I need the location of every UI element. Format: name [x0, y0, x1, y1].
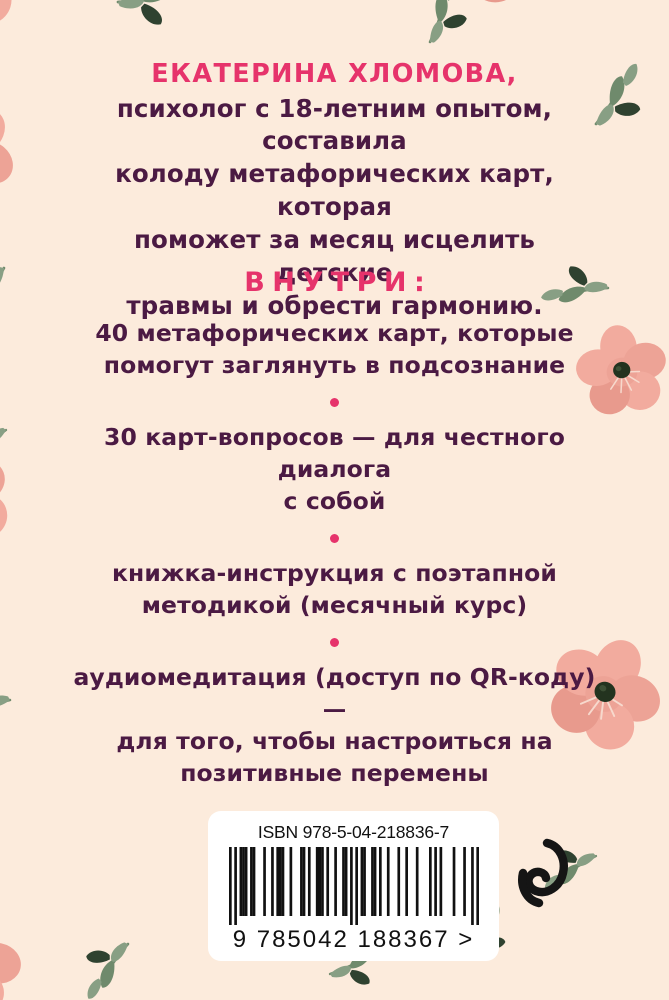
- feature-line: 30 карт-вопросов — для честного диалога: [104, 423, 565, 483]
- book-back-cover: ЕКАТЕРИНА ХЛОМОВА, психолог с 18-летним …: [0, 0, 669, 1000]
- feature-separator-dot: [330, 534, 339, 543]
- feature-list: 40 метафорических карт, которыепомогут з…: [62, 318, 607, 789]
- feature-line: 40 метафорических карт, которые: [95, 319, 573, 347]
- isbn-barcode-box: ISBN 978-5-04-218836-7 9 785042 188367 >: [208, 811, 499, 961]
- eksmo-spiral-logo: [516, 838, 570, 908]
- feature-line: для того, чтобы настроиться на: [116, 727, 552, 755]
- isbn-text: ISBN 978-5-04-218836-7: [258, 822, 449, 843]
- blurb-line: колоду метафорических карт, которая: [115, 159, 554, 221]
- feature-item: аудиомедитация (доступ по QR-коду) —для …: [62, 662, 607, 790]
- author-name: ЕКАТЕРИНА ХЛОМОВА,: [72, 58, 597, 91]
- ean-digits: 9 785042 188367 >: [233, 926, 475, 954]
- feature-line: позитивные перемены: [180, 759, 489, 787]
- blurb-line: психолог с 18-летним опытом, составила: [117, 94, 552, 156]
- inside-heading: ВНУТРИ:: [72, 267, 597, 298]
- feature-separator-dot: [330, 638, 339, 647]
- feature-line: с собой: [284, 487, 386, 515]
- feature-line: методикой (месячный курс): [142, 591, 528, 619]
- feature-line: книжка-инструкция с поэтапной: [112, 559, 557, 587]
- barcode-bars: [229, 847, 479, 925]
- feature-item: книжка-инструкция с поэтапнойметодикой (…: [62, 558, 607, 622]
- feature-item: 40 метафорических карт, которыепомогут з…: [62, 318, 607, 382]
- feature-item: 30 карт-вопросов — для честного диалогас…: [62, 422, 607, 518]
- feature-line: помогут заглянуть в подсознание: [104, 351, 565, 379]
- feature-line: аудиомедитация (доступ по QR-коду) —: [73, 663, 595, 723]
- feature-separator-dot: [330, 398, 339, 407]
